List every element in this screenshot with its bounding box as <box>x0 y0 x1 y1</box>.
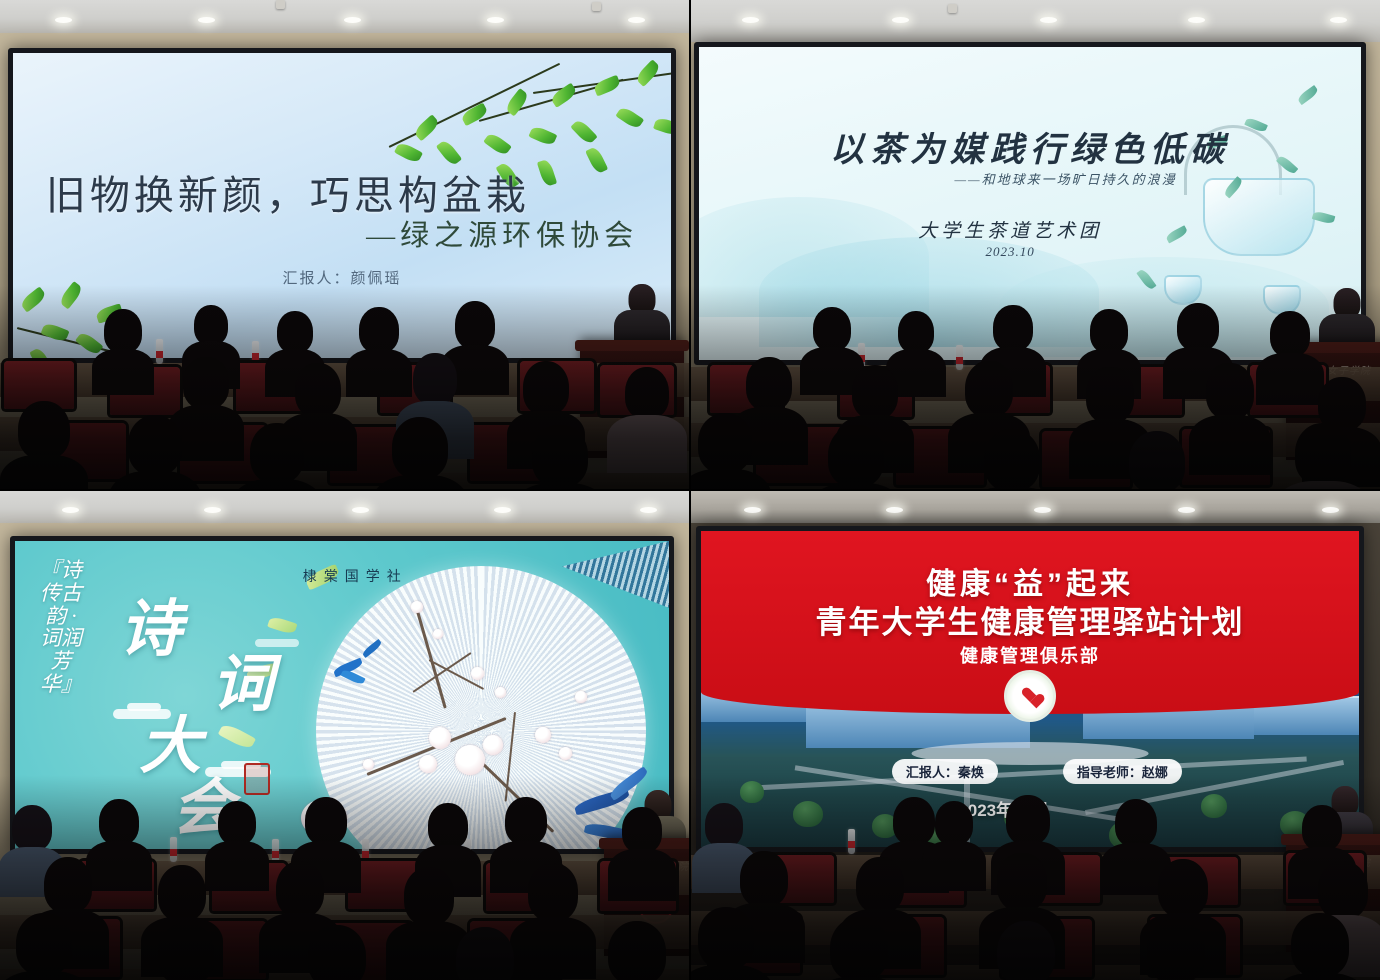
ceiling <box>690 490 1380 523</box>
downlight <box>62 507 79 513</box>
audience-member <box>988 921 1064 980</box>
panel-poetry: 『诗传古韵 · 词润芳华』 棣棠国学社 诗 词 大 会 山东女子学院 <box>0 490 690 980</box>
audience-member <box>690 413 760 490</box>
downlight <box>198 17 215 23</box>
audience-member <box>352 307 406 387</box>
slide-organization: 大学生茶道艺术团 <box>918 216 1102 243</box>
water-bottle <box>848 829 855 854</box>
slide-subtitle: —绿之源环保协会 <box>366 212 638 254</box>
downlight <box>1040 17 1057 23</box>
slide-organization: 棣棠国学社 <box>303 566 408 586</box>
collage-divider-horizontal <box>0 489 1380 491</box>
audience-member <box>8 913 80 980</box>
audience <box>690 795 1380 980</box>
photo-collage: 旧物换新颜，巧思构盆栽 —绿之源环保协会 汇报人：颜佩瑶 山东女子学院 <box>0 0 1380 980</box>
audience-member <box>10 401 78 490</box>
downlight <box>640 507 657 513</box>
heart-icon <box>1022 688 1039 704</box>
slide-presenter: 汇报人：颜佩瑶 <box>282 267 401 288</box>
club-logo-icon <box>1004 670 1056 722</box>
audience-member <box>820 425 892 490</box>
audience-member <box>600 921 674 980</box>
audience-member <box>1198 363 1262 459</box>
ceiling <box>690 0 1380 42</box>
ceiling <box>0 490 690 523</box>
audience-member <box>1138 919 1214 980</box>
slide-title-line2: 青年大学生健康管理驿站计划 <box>816 597 1245 642</box>
downlight <box>886 507 903 513</box>
downlight <box>204 507 221 513</box>
smoke-detector <box>592 2 601 11</box>
panel-tea: 以茶为媒践行绿色低碳 ——和地球来一场旷日持久的浪漫 大学生茶道艺术团 2023… <box>690 0 1380 490</box>
audience-member <box>120 415 190 490</box>
audience-member <box>614 807 670 893</box>
leaf-branch-icon <box>383 58 671 178</box>
audience-member <box>520 863 586 961</box>
water-bottle <box>170 837 177 862</box>
downlight <box>742 17 759 23</box>
downlight <box>1034 507 1051 513</box>
downlight <box>744 507 761 513</box>
downlight <box>352 507 369 513</box>
downlight <box>55 17 72 23</box>
audience-member <box>242 423 312 490</box>
slide-date: 2023.10 <box>986 244 1035 260</box>
audience <box>0 795 690 980</box>
audience-member <box>1120 431 1194 490</box>
audience-member <box>150 923 222 980</box>
seal-stamp-icon <box>244 763 270 795</box>
audience-member <box>1282 913 1358 980</box>
downlight <box>628 17 645 23</box>
slide-advisor: 指导老师：赵娜 <box>1063 759 1182 784</box>
slide-subtitle: ——和地球来一场旷日持久的浪漫 <box>954 169 1176 188</box>
slide-motto: 『诗传古韵 · 词润芳华』 <box>38 559 84 695</box>
smoke-detector <box>276 0 285 9</box>
audience-member <box>928 801 980 885</box>
slide-organization: 健康管理俱乐部 <box>960 642 1100 668</box>
audience-member <box>92 799 146 883</box>
panel-health: 健康“益”起来 青年大学生健康管理驿站计划 健康管理俱乐部 汇报人：秦焕 指导老… <box>690 490 1380 980</box>
downlight <box>494 507 511 513</box>
slide-title: 以茶为媒践行绿色低碳 <box>830 122 1230 171</box>
audience-member <box>616 367 678 463</box>
audience-member <box>690 907 762 980</box>
ceiling <box>0 0 690 33</box>
downlight <box>1188 17 1205 23</box>
audience <box>0 305 690 490</box>
downlight <box>487 17 504 23</box>
downlight <box>344 17 361 23</box>
audience-member <box>448 927 522 980</box>
title-char-2: 词 <box>211 633 273 723</box>
water-bottle <box>156 339 163 364</box>
audience-member <box>1286 423 1360 490</box>
audience <box>690 305 1380 490</box>
audience-member <box>976 429 1048 490</box>
smoke-detector <box>948 4 957 13</box>
audience-member <box>524 425 596 490</box>
slide-presenter: 汇报人：秦焕 <box>892 759 998 784</box>
audience-member <box>210 801 264 885</box>
downlight <box>1322 507 1339 513</box>
title-char-1: 诗 <box>120 578 182 668</box>
audience-member <box>98 309 148 389</box>
downlight <box>1178 507 1195 513</box>
audience-member <box>822 917 896 980</box>
audience-member <box>384 417 456 490</box>
downlight <box>892 17 909 23</box>
teapot-icon <box>1203 178 1315 256</box>
downlight <box>1330 17 1347 23</box>
audience-member <box>300 925 374 980</box>
panel-recycling: 旧物换新颜，巧思构盆栽 —绿之源环保协会 汇报人：颜佩瑶 山东女子学院 <box>0 0 690 490</box>
